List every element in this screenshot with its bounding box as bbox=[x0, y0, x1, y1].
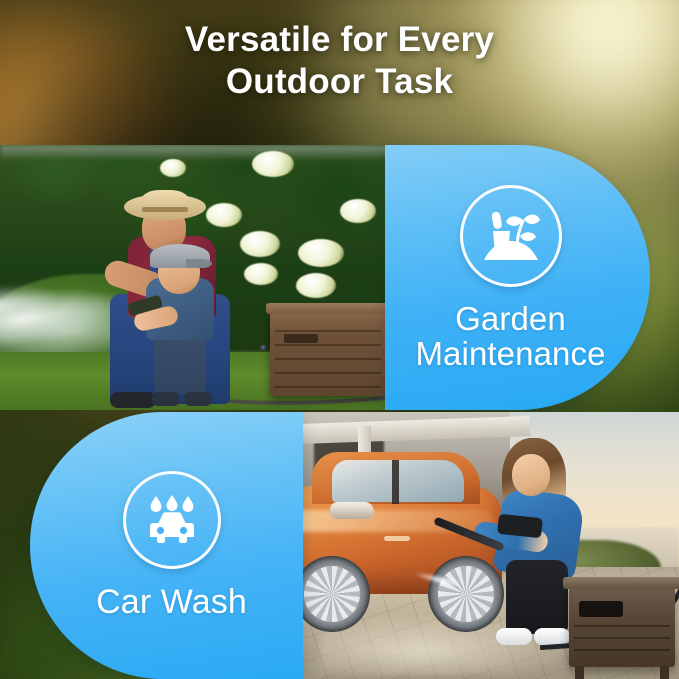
hydrangea-bloom bbox=[240, 231, 280, 257]
box-slat bbox=[275, 344, 381, 346]
garden-plant-shovel-icon bbox=[460, 185, 562, 287]
box-slat bbox=[574, 637, 670, 639]
box-slat bbox=[275, 372, 381, 374]
box-slat bbox=[574, 625, 670, 627]
hydrangea-bloom bbox=[252, 151, 294, 177]
car-side-mirror bbox=[330, 502, 374, 519]
straw-hat-band bbox=[142, 207, 188, 212]
hose-reel-box bbox=[569, 585, 675, 667]
car-wash-icon bbox=[123, 471, 221, 569]
feature-card-garden-label: Garden Maintenance bbox=[415, 301, 605, 371]
headline-line-2: Outdoor Task bbox=[0, 61, 679, 103]
box-leg bbox=[660, 666, 669, 679]
hose-reel-box-lid bbox=[266, 303, 390, 314]
page-title: Versatile for Every Outdoor Task bbox=[0, 19, 679, 103]
child-gardener bbox=[140, 240, 222, 406]
poster-root: Versatile for Every Outdoor Task bbox=[0, 0, 679, 679]
box-slat bbox=[275, 330, 381, 332]
garden-photo-top-band bbox=[0, 145, 392, 159]
box-slat bbox=[275, 386, 381, 388]
feature-card-car-label: Car Wash bbox=[96, 585, 247, 620]
feature-row-garden: Garden Maintenance bbox=[0, 145, 679, 410]
feature-card-car[interactable]: Car Wash bbox=[30, 412, 303, 679]
car-door-handle bbox=[384, 536, 410, 541]
car-front-wheel bbox=[300, 556, 370, 632]
hydrangea-bloom bbox=[296, 273, 336, 298]
feature-card-garden[interactable]: Garden Maintenance bbox=[385, 145, 650, 410]
box-slat bbox=[275, 358, 381, 360]
person-shoe bbox=[496, 628, 532, 645]
hose-reel-box-lid bbox=[563, 577, 679, 589]
hydrangea-bloom bbox=[340, 199, 376, 223]
feature-row-car: Car Wash bbox=[0, 412, 679, 679]
hydrangea-bloom bbox=[298, 239, 344, 267]
box-hose-port bbox=[579, 601, 623, 617]
hydrangea-bloom bbox=[160, 159, 186, 177]
child-sandal bbox=[152, 392, 180, 406]
headline-line-1: Versatile for Every bbox=[185, 20, 494, 59]
box-leg bbox=[575, 666, 584, 679]
wheel-spokes bbox=[304, 566, 360, 622]
box-slat bbox=[574, 649, 670, 651]
garden-watering-photo bbox=[0, 145, 392, 410]
child-cap-brim bbox=[186, 259, 212, 268]
box-vent bbox=[284, 334, 318, 343]
car-door-pillar bbox=[392, 460, 399, 504]
car-washing-photo bbox=[300, 412, 679, 679]
child-sandal bbox=[184, 392, 212, 406]
hydrangea-bloom bbox=[244, 263, 278, 285]
hose-reel-box bbox=[270, 310, 386, 396]
person-head bbox=[512, 454, 550, 496]
